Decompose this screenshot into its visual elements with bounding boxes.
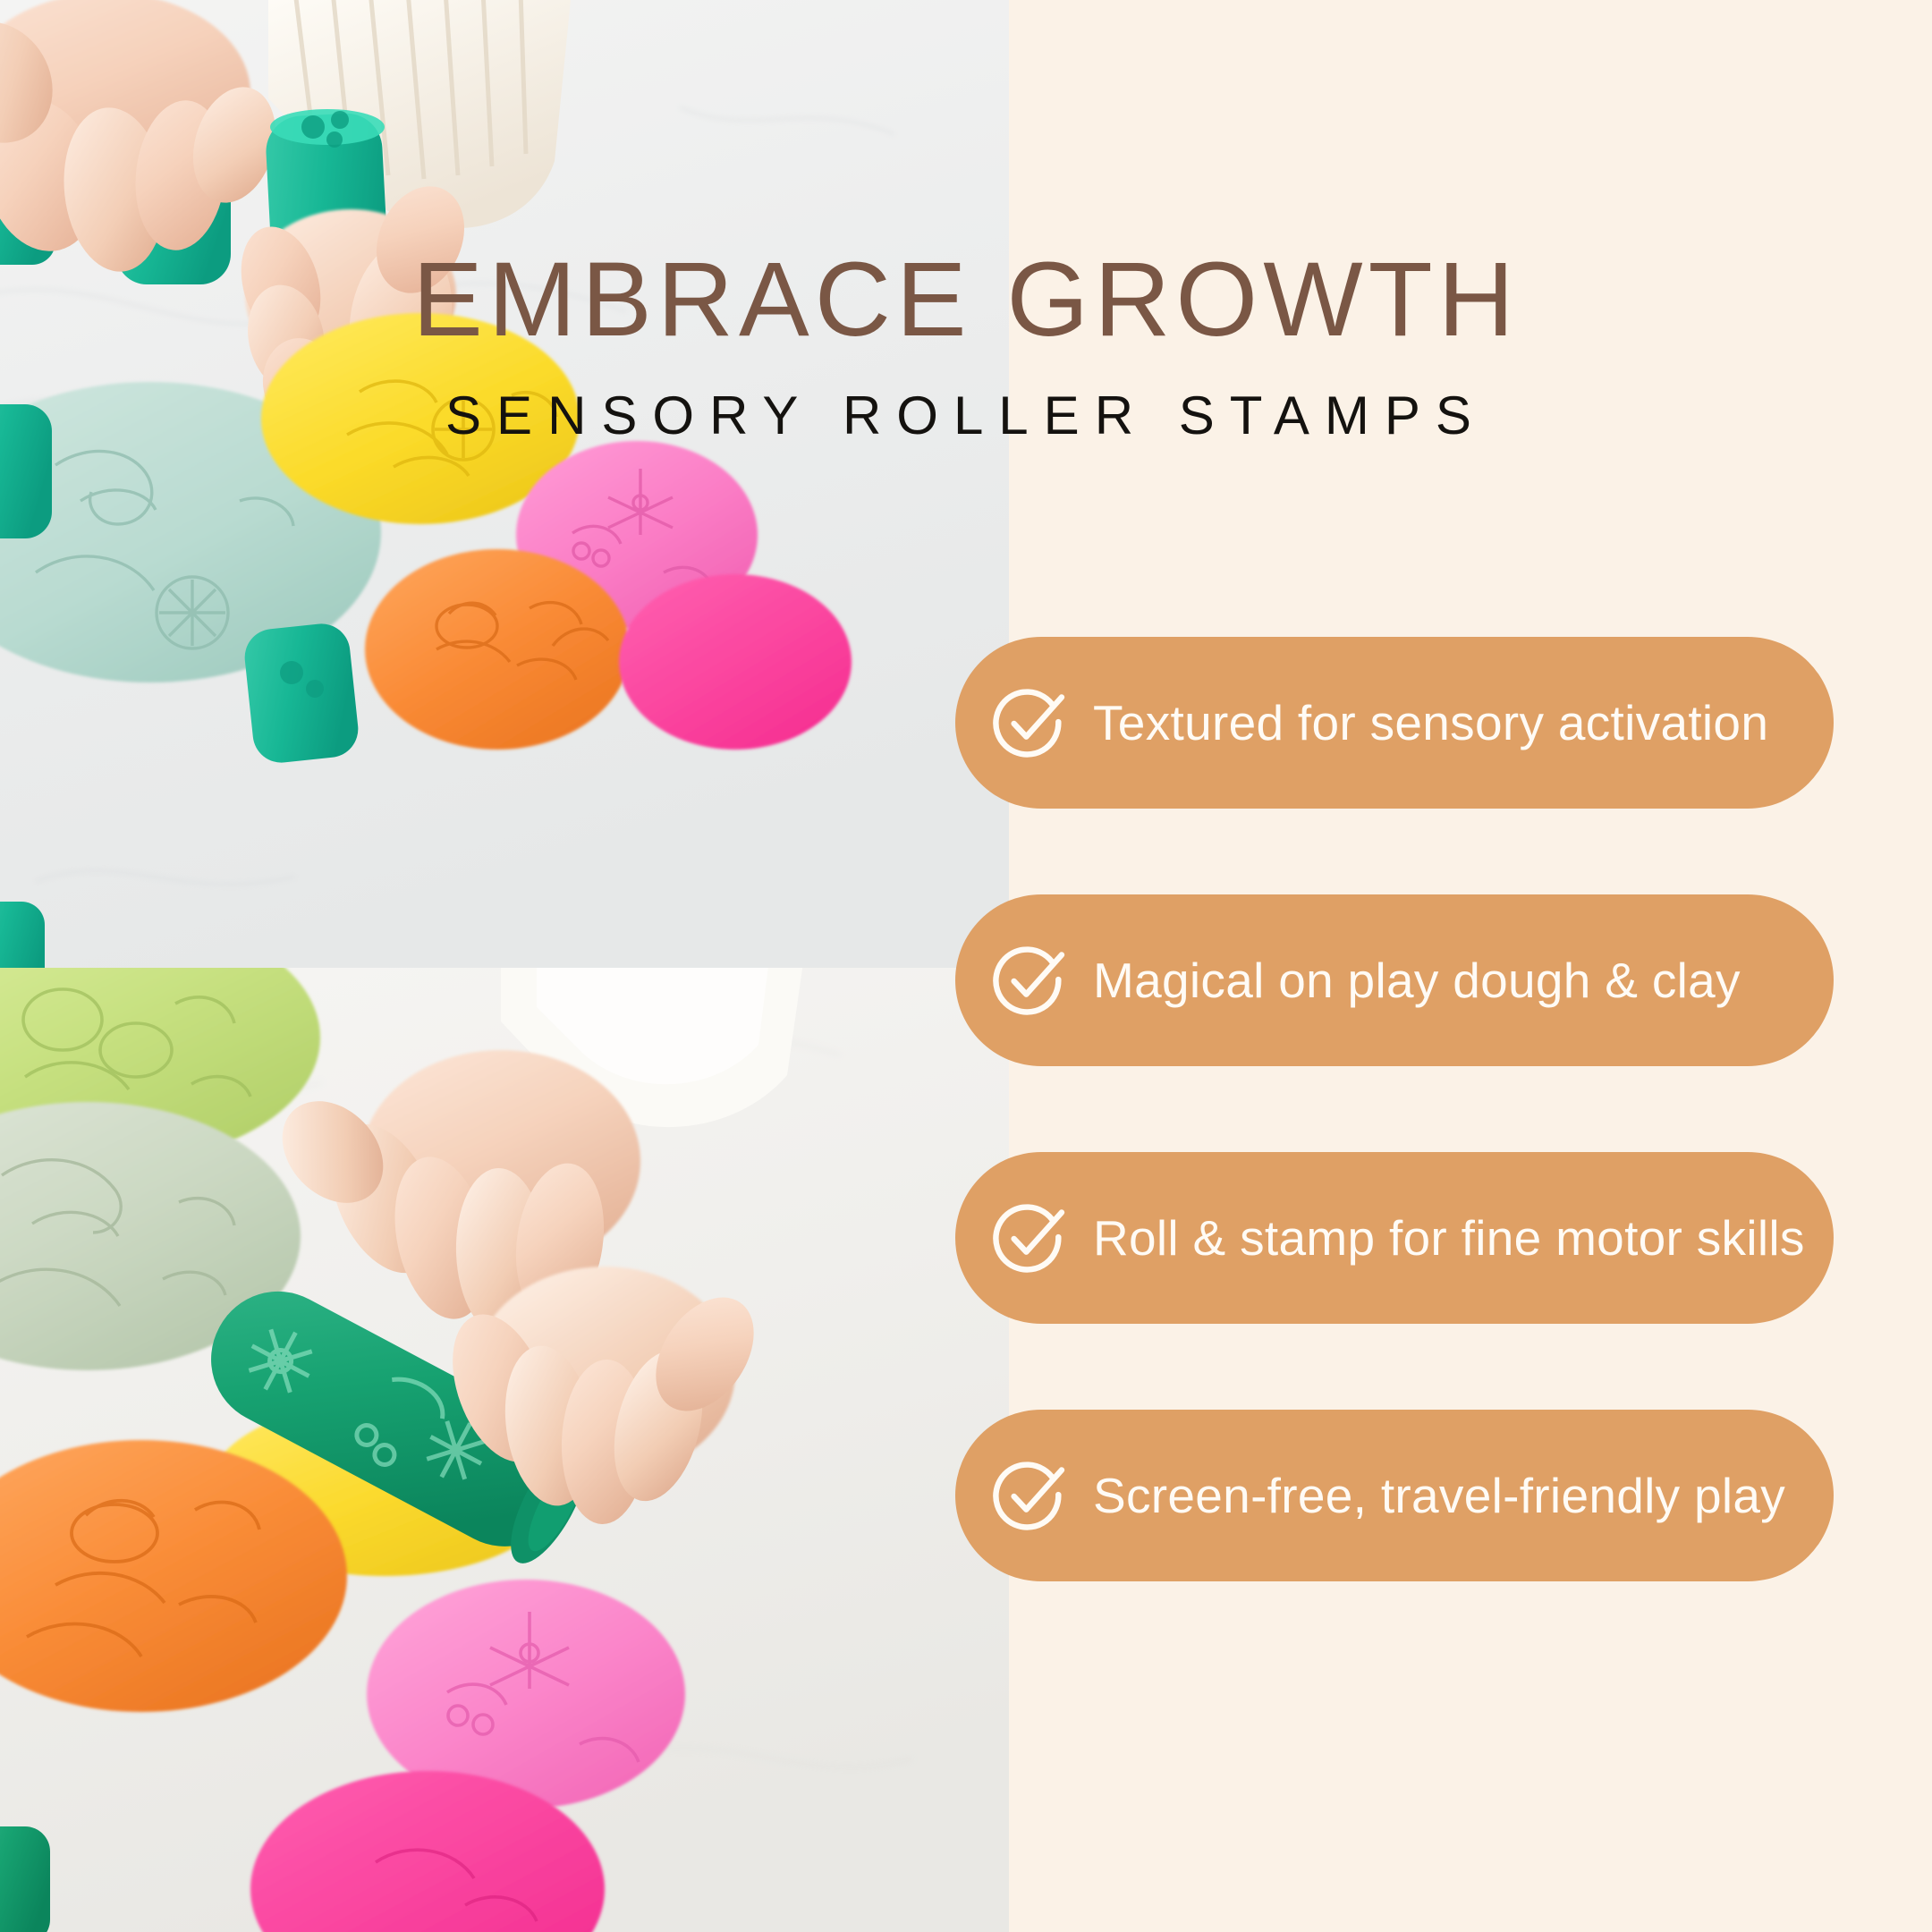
feature-pill-4[interactable]: Screen-free, travel-friendly play [955,1410,1834,1581]
check-circle-icon [989,939,1072,1021]
feature-label: Magical on play dough & clay [1093,952,1741,1009]
feature-pill-2[interactable]: Magical on play dough & clay [955,894,1834,1066]
feature-pill-3[interactable]: Roll & stamp for fine motor skills [955,1152,1834,1324]
feature-pill-1[interactable]: Textured for sensory activation [955,637,1834,809]
check-circle-icon [989,1197,1072,1279]
feature-label: Textured for sensory activation [1093,694,1768,751]
feature-list: Textured for sensory activation Magical … [0,0,1932,1932]
feature-label: Roll & stamp for fine motor skills [1093,1209,1805,1267]
check-circle-icon [989,682,1072,764]
feature-label: Screen-free, travel-friendly play [1093,1467,1785,1524]
check-circle-icon [989,1454,1072,1537]
poster-canvas: EMBRACE GROWTH SENSORY ROLLER STAMPS Tex… [0,0,1932,1932]
